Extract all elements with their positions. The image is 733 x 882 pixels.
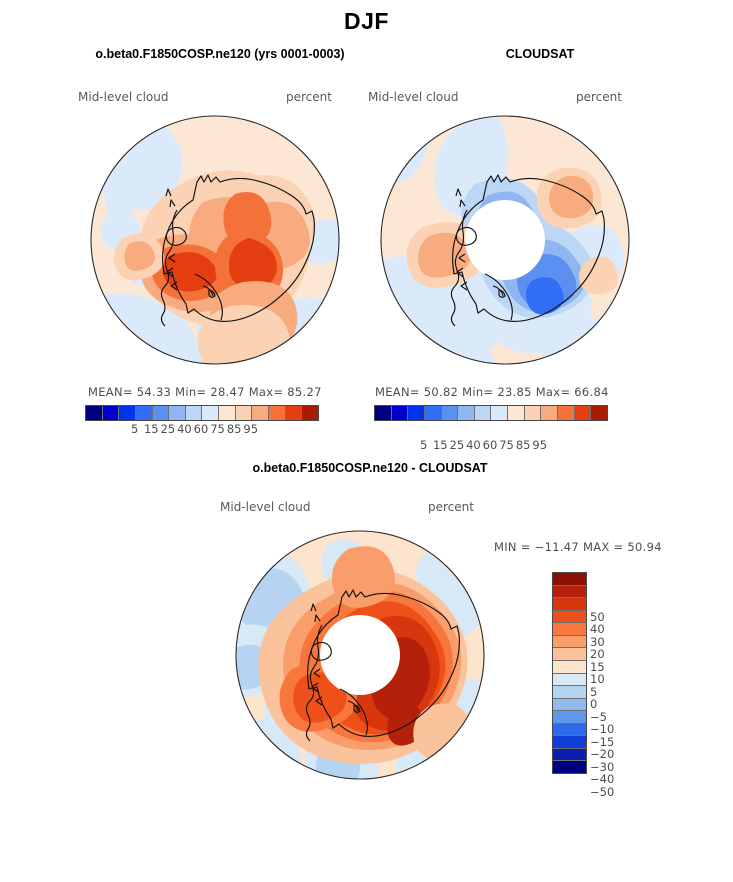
colorbar-tick-label: 60 [194,422,209,436]
obs-units-label: percent [576,90,622,104]
difference-colorbar-ticks: 50403020151050−5−10−15−20−30−40−50 [590,604,636,804]
colorbar-tick-label: 95 [243,422,258,436]
colorbar-segment [553,761,586,773]
colorbar-segment [508,406,525,420]
colorbar-tick-label: 25 [450,438,465,452]
colorbar-segment [236,406,253,420]
colorbar-segment [252,406,269,420]
model-map [85,110,345,370]
colorbar-segment [392,406,409,420]
colorbar-tick-label: 75 [499,438,514,452]
diff-minmax: MIN = −11.47 MAX = 50.94 [494,540,662,554]
colorbar-segment [553,648,586,661]
colorbar-segment [553,573,586,586]
model-colorbar [85,405,319,421]
panel-title-difference: o.beta0.F1850COSP.ne120 - CLOUDSAT [120,461,620,475]
colorbar-segment [553,674,586,687]
colorbar-segment [269,406,286,420]
diff-units-label: percent [428,500,474,514]
diff-variable-label: Mid-level cloud [220,500,310,514]
colorbar-segment [553,611,586,624]
colorbar-segment [553,749,586,762]
model-variable-label: Mid-level cloud [78,90,168,104]
colorbar-tick-label: −50 [590,785,614,799]
obs-colorbar [374,405,608,421]
colorbar-segment [575,406,592,420]
colorbar-segment [425,406,442,420]
colorbar-segment [458,406,475,420]
colorbar-tick-label: 15 [144,422,159,436]
colorbar-segment [553,636,586,649]
colorbar-segment [153,406,170,420]
obs-variable-label: Mid-level cloud [368,90,458,104]
colorbar-tick-label: 85 [516,438,531,452]
colorbar-tick-label: 5 [131,422,138,436]
colorbar-segment [286,406,303,420]
colorbar-tick-label: 40 [177,422,192,436]
colorbar-segment [119,406,136,420]
colorbar-segment [553,711,586,724]
colorbar-segment [475,406,492,420]
model-stats: MEAN= 54.33 Min= 28.47 Max= 85.27 [88,385,322,399]
colorbar-tick-label: 15 [433,438,448,452]
colorbar-tick-label: 5 [420,438,427,452]
panel-title-obs: CLOUDSAT [400,47,680,61]
obs-colorbar-ticks: 515254060758595 [374,438,606,454]
colorbar-segment [553,699,586,712]
colorbar-segment [558,406,575,420]
colorbar-segment [553,586,586,599]
obs-map [375,110,635,370]
colorbar-segment [491,406,508,420]
colorbar-segment [169,406,186,420]
colorbar-segment [553,661,586,674]
colorbar-segment [525,406,542,420]
colorbar-segment [186,406,203,420]
colorbar-segment [103,406,120,420]
model-colorbar-ticks: 515254060758595 [85,422,317,438]
colorbar-segment [202,406,219,420]
panel-title-model: o.beta0.F1850COSP.ne120 (yrs 0001-0003) [50,47,390,61]
colorbar-segment [86,406,103,420]
colorbar-tick-label: 95 [532,438,547,452]
colorbar-segment [553,598,586,611]
colorbar-segment [375,406,392,420]
colorbar-segment [408,406,425,420]
colorbar-segment [219,406,236,420]
colorbar-tick-label: 25 [161,422,176,436]
diff-map [230,525,490,785]
colorbar-segment [553,736,586,749]
model-units-label: percent [286,90,332,104]
colorbar-segment [136,406,153,420]
colorbar-segment [553,724,586,737]
colorbar-tick-label: 85 [227,422,242,436]
colorbar-tick-label: 75 [210,422,225,436]
difference-colorbar [552,572,587,774]
main-title: DJF [0,8,733,35]
colorbar-segment [302,406,318,420]
colorbar-segment [591,406,607,420]
colorbar-segment [442,406,459,420]
obs-stats: MEAN= 50.82 Min= 23.85 Max= 66.84 [375,385,609,399]
colorbar-segment [541,406,558,420]
colorbar-segment [553,623,586,636]
colorbar-segment [553,686,586,699]
colorbar-tick-label: 60 [483,438,498,452]
colorbar-tick-label: 40 [466,438,481,452]
